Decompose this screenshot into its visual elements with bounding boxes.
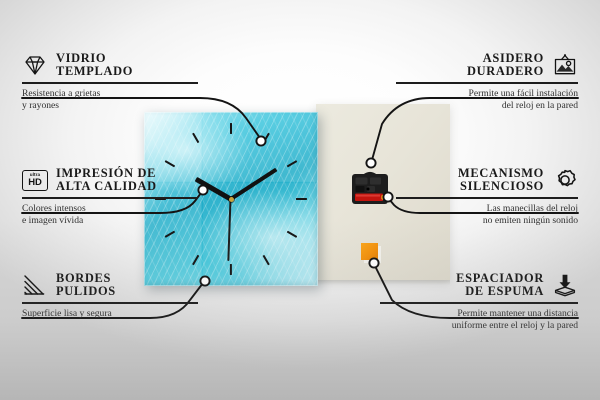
feature-vidrio-templado: VIDRIO TEMPLADO Resistencia a grietas y … <box>22 52 198 112</box>
ultra-hd-icon: ultra HD <box>22 170 48 191</box>
feature-subtitle: Permite mantener una distancia uniforme … <box>380 308 578 333</box>
picture-frame-hanger-icon <box>552 53 578 77</box>
feature-title-line2: PULIDOS <box>56 285 116 298</box>
quartz-movement-icon <box>348 168 392 208</box>
feature-title-line2: DURADERO <box>467 65 544 78</box>
foam-spacer-arrow-icon <box>552 273 578 297</box>
feature-subtitle: Permite una fácil instalación del reloj … <box>396 88 578 113</box>
diamond-icon <box>22 53 48 77</box>
feature-subtitle: Las manecillas del reloj no emiten ningú… <box>396 203 578 228</box>
gear-icon <box>552 168 578 192</box>
feature-subtitle: Resistencia a grietas y rayones <box>22 88 198 113</box>
infographic-canvas: VIDRIO TEMPLADO Resistencia a grietas y … <box>0 0 600 400</box>
feature-divider <box>396 82 578 83</box>
feature-title-line2: DE ESPUMA <box>456 285 544 298</box>
feature-mecanismo-silencioso: MECANISMO SILENCIOSO Las manecillas del … <box>396 167 578 227</box>
feature-divider <box>22 302 198 303</box>
feature-title-line2: SILENCIOSO <box>458 180 544 193</box>
ultra-hd-icon-bottom: HD <box>28 178 42 188</box>
foam-spacer-product <box>361 243 378 260</box>
feature-divider <box>22 82 198 83</box>
polished-edge-icon <box>22 273 48 297</box>
feature-asidero-duradero: ASIDERO DURADERO Permite una fácil insta… <box>396 52 578 112</box>
feature-divider <box>22 197 198 198</box>
feature-impresion-alta-calidad: ultra HD IMPRESIÓN DE ALTA CALIDAD Color… <box>22 167 198 227</box>
feature-divider <box>396 197 578 198</box>
feature-bordes-pulidos: BORDES PULIDOS Superficie lisa y segura <box>22 272 198 320</box>
feature-espaciador-de-espuma: ESPACIADOR DE ESPUMA Permite mantener un… <box>380 272 578 332</box>
feature-divider <box>380 302 578 303</box>
feature-subtitle: Superficie lisa y segura <box>22 308 198 320</box>
feature-title-line2: ALTA CALIDAD <box>56 180 157 193</box>
feature-subtitle: Colores intensos e imagen vívida <box>22 203 198 228</box>
feature-title-line2: TEMPLADO <box>56 65 133 78</box>
